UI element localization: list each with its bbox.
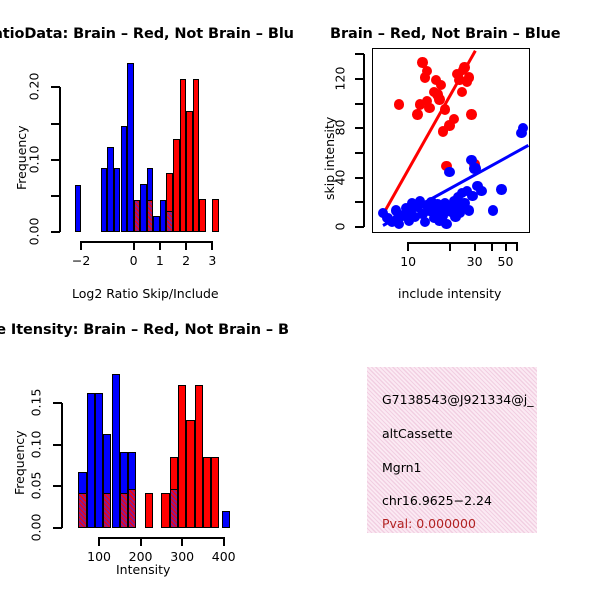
histogram-bar bbox=[120, 493, 128, 528]
x-axis-tick-label: −2 bbox=[61, 253, 101, 268]
y-axis-tick bbox=[355, 177, 364, 179]
panel-intensity-histogram: ne Itensity: Brain – Red, Not Brain – B … bbox=[0, 300, 300, 600]
x-axis-tick bbox=[491, 242, 493, 251]
x-axis-line bbox=[99, 537, 224, 539]
scatter-point bbox=[449, 114, 459, 124]
x-axis-tick-label: 3 bbox=[192, 253, 232, 268]
x-axis-tick bbox=[80, 241, 82, 250]
y-axis-tick bbox=[355, 127, 364, 129]
x-axis-tick bbox=[474, 242, 476, 251]
y-axis-tick-label: 0.10 bbox=[29, 424, 44, 464]
y-axis-tick bbox=[51, 195, 60, 197]
x-axis-tick-label: 50 bbox=[486, 254, 526, 269]
x-axis-tick bbox=[505, 242, 507, 251]
scatter-point bbox=[518, 123, 528, 133]
x-axis-tick bbox=[516, 242, 518, 251]
histogram-bar bbox=[170, 489, 178, 528]
histogram-bar bbox=[114, 168, 121, 232]
histogram-bar bbox=[195, 385, 203, 528]
histogram-bar bbox=[222, 511, 230, 529]
x-axis-line bbox=[81, 241, 212, 243]
histogram-bar bbox=[199, 199, 206, 232]
histogram-bar bbox=[193, 79, 200, 232]
x-axis-tick bbox=[140, 537, 142, 546]
y-axis-tick-label: 0.00 bbox=[27, 212, 42, 252]
x-axis-tick bbox=[211, 241, 213, 250]
y-axis-tick-label: 0.05 bbox=[29, 466, 44, 506]
scatter-point bbox=[488, 205, 498, 215]
x-axis-tick bbox=[449, 242, 451, 251]
info-panel-box: G7138543@J921334@j_ altCassette Mgrn1 ch… bbox=[367, 367, 537, 533]
panel-intensity-scatter: Brain – Red, Not Brain – Blue skip inten… bbox=[300, 0, 600, 300]
histogram-bar bbox=[134, 200, 141, 232]
scatter-point bbox=[470, 163, 480, 173]
histogram-bar bbox=[101, 168, 108, 232]
y-axis-tick bbox=[355, 226, 364, 228]
histogram-bar bbox=[128, 489, 136, 528]
histogram-bar bbox=[78, 493, 86, 528]
y-axis-tick bbox=[355, 53, 364, 55]
scatter-point bbox=[394, 99, 404, 109]
histogram-bar bbox=[127, 63, 134, 232]
histogram-bar bbox=[112, 374, 120, 528]
histogram-bar bbox=[180, 79, 187, 232]
y-axis-tick bbox=[51, 86, 60, 88]
panel-info: G7138543@J921334@j_ altCassette Mgrn1 ch… bbox=[300, 300, 600, 600]
x-axis-tick bbox=[223, 537, 225, 546]
histogram-bar bbox=[147, 200, 154, 232]
y-axis-tick bbox=[355, 152, 364, 154]
x-axis-tick-label: 10 bbox=[388, 254, 428, 269]
x-axis-tick bbox=[98, 537, 100, 546]
scatter-box bbox=[372, 48, 530, 233]
scatter-point bbox=[476, 186, 486, 196]
y-axis-tick-label: 80 bbox=[333, 108, 348, 148]
histogram-bar bbox=[186, 420, 194, 528]
y-axis-tick bbox=[53, 444, 62, 446]
scatter-point bbox=[440, 104, 450, 114]
info-line-locus: chr16.9625−2.24 bbox=[382, 493, 492, 508]
info-line-gene: Mgrn1 bbox=[382, 460, 422, 475]
histogram-bar bbox=[212, 199, 219, 232]
histogram-bar bbox=[211, 457, 219, 528]
scatter-point bbox=[457, 87, 467, 97]
scatter-point bbox=[422, 66, 432, 76]
y-axis-line bbox=[61, 403, 63, 528]
x-axis-tick-label: 400 bbox=[204, 549, 244, 564]
histogram-bar bbox=[160, 200, 167, 232]
x-axis-tick bbox=[185, 241, 187, 250]
x-axis-tick bbox=[407, 242, 409, 251]
y-axis-tick-label: 0.00 bbox=[29, 508, 44, 548]
histogram-bar bbox=[166, 211, 173, 232]
histogram-bar bbox=[75, 185, 82, 232]
ratio-histogram-plot: 0.000.100.20−20123 bbox=[0, 0, 300, 300]
histogram-bar bbox=[87, 393, 95, 529]
y-axis-tick bbox=[355, 103, 364, 105]
panel-ratio-histogram: RatioData: Brain – Red, Not Brain – Blu … bbox=[0, 0, 300, 300]
y-axis-tick bbox=[51, 123, 60, 125]
y-axis-tick bbox=[355, 201, 364, 203]
x-axis-line bbox=[408, 242, 516, 244]
figure-canvas: RatioData: Brain – Red, Not Brain – Blu … bbox=[0, 0, 600, 600]
scatter-point bbox=[444, 167, 454, 177]
x-axis-tick-label: 100 bbox=[79, 549, 119, 564]
info-line-event-type: altCassette bbox=[382, 426, 453, 441]
histogram-bar bbox=[95, 393, 103, 529]
histogram-bar bbox=[203, 457, 211, 528]
y-axis-tick bbox=[51, 159, 60, 161]
intensity-histogram-plot: 0.000.050.100.15100200300400 bbox=[0, 300, 300, 600]
y-axis-tick-label: 0.20 bbox=[27, 67, 42, 107]
histogram-bar bbox=[103, 493, 111, 528]
y-axis-tick-label: 120 bbox=[333, 58, 348, 98]
scatter-plot-area: 04080120103050 bbox=[300, 0, 600, 300]
scatter-point bbox=[459, 62, 469, 72]
y-axis-tick-label: 0.10 bbox=[27, 139, 42, 179]
histogram-bar bbox=[178, 385, 186, 528]
y-axis-tick-label: 0.15 bbox=[29, 383, 44, 423]
scatter-point bbox=[464, 205, 474, 215]
x-axis-tick-label: 200 bbox=[121, 549, 161, 564]
scatter-point bbox=[436, 80, 446, 90]
y-axis-tick-label: 40 bbox=[333, 157, 348, 197]
x-axis-tick bbox=[159, 241, 161, 250]
y-axis-tick bbox=[53, 402, 62, 404]
x-axis-tick-label: 300 bbox=[162, 549, 202, 564]
scatter-point bbox=[424, 103, 434, 113]
scatter-point bbox=[496, 184, 506, 194]
histogram-bar bbox=[145, 493, 153, 528]
y-axis-tick bbox=[355, 78, 364, 80]
info-line-id: G7138543@J921334@j_ bbox=[382, 392, 533, 407]
scatter-point bbox=[466, 109, 476, 119]
scatter-point bbox=[441, 219, 451, 229]
x-axis-tick bbox=[133, 241, 135, 250]
scatter-point bbox=[464, 72, 474, 82]
y-axis-tick-label: 0 bbox=[333, 206, 348, 246]
y-axis-tick bbox=[51, 231, 60, 233]
y-axis-tick bbox=[53, 527, 62, 529]
scatter-point bbox=[412, 109, 422, 119]
x-axis-tick bbox=[181, 537, 183, 546]
histogram-bar bbox=[161, 493, 169, 528]
info-line-pval: Pval: 0.000000 bbox=[382, 516, 476, 531]
y-axis-tick bbox=[53, 485, 62, 487]
